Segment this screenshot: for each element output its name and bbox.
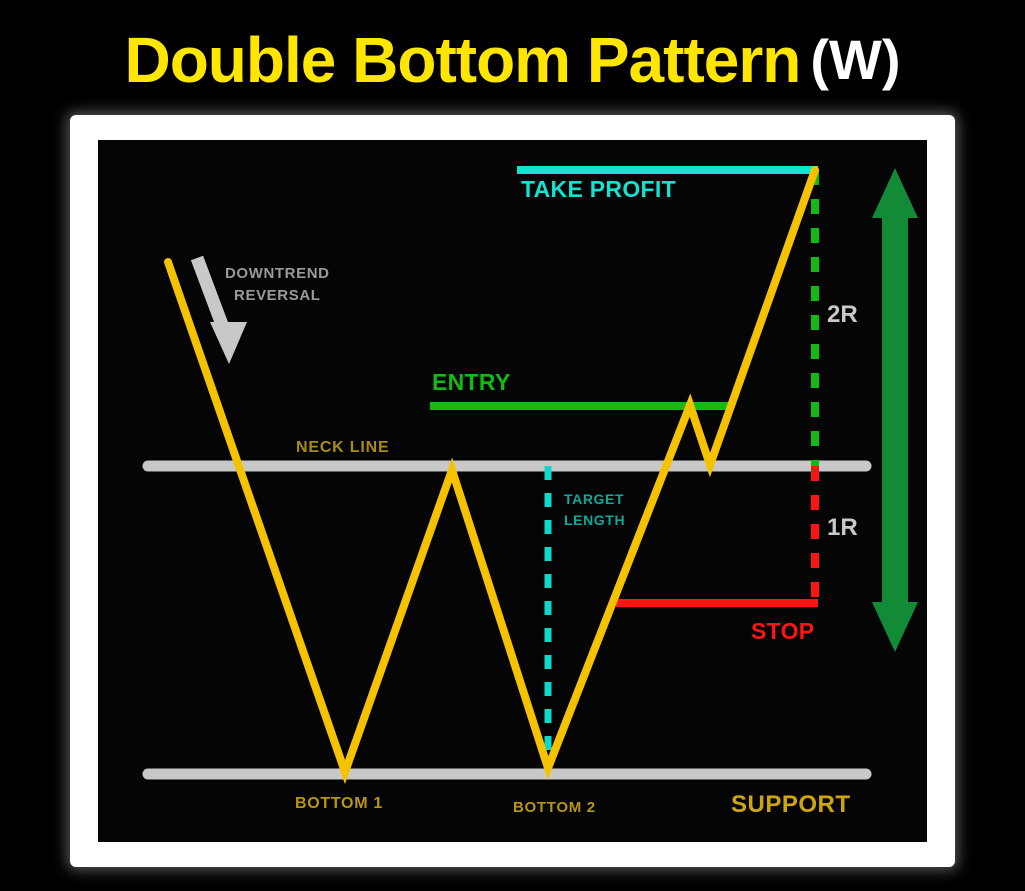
stop-label: STOP [751,620,814,643]
bottom-2-label: BOTTOM 2 [513,800,596,815]
neck-line-label: NECK LINE [296,440,389,456]
downtrend-reversal-line1: DOWNTREND [225,263,330,285]
target-length-label: TARGET LENGTH [564,489,625,531]
entry-label: ENTRY [432,371,511,394]
diagram-root: Double Bottom Pattern (W) [0,0,1025,891]
risk-1r-label: 1R [827,516,858,540]
support-label: SUPPORT [731,793,851,817]
chart-canvas [98,140,927,842]
target-length-line1: TARGET [564,489,625,510]
bottom-1-label: BOTTOM 1 [295,796,383,812]
target-length-line2: LENGTH [564,510,625,531]
reward-2r-label: 2R [827,303,858,327]
downtrend-reversal-line2: REVERSAL [225,285,330,307]
chart-frame [70,115,955,867]
take-profit-label: TAKE PROFIT [521,178,676,201]
page-title: Double Bottom Pattern (W) [0,14,1025,106]
downtrend-reversal-label: DOWNTREND REVERSAL [225,263,330,307]
title-suffix-text: (W) [810,32,900,88]
title-main-text: Double Bottom Pattern [124,28,800,92]
